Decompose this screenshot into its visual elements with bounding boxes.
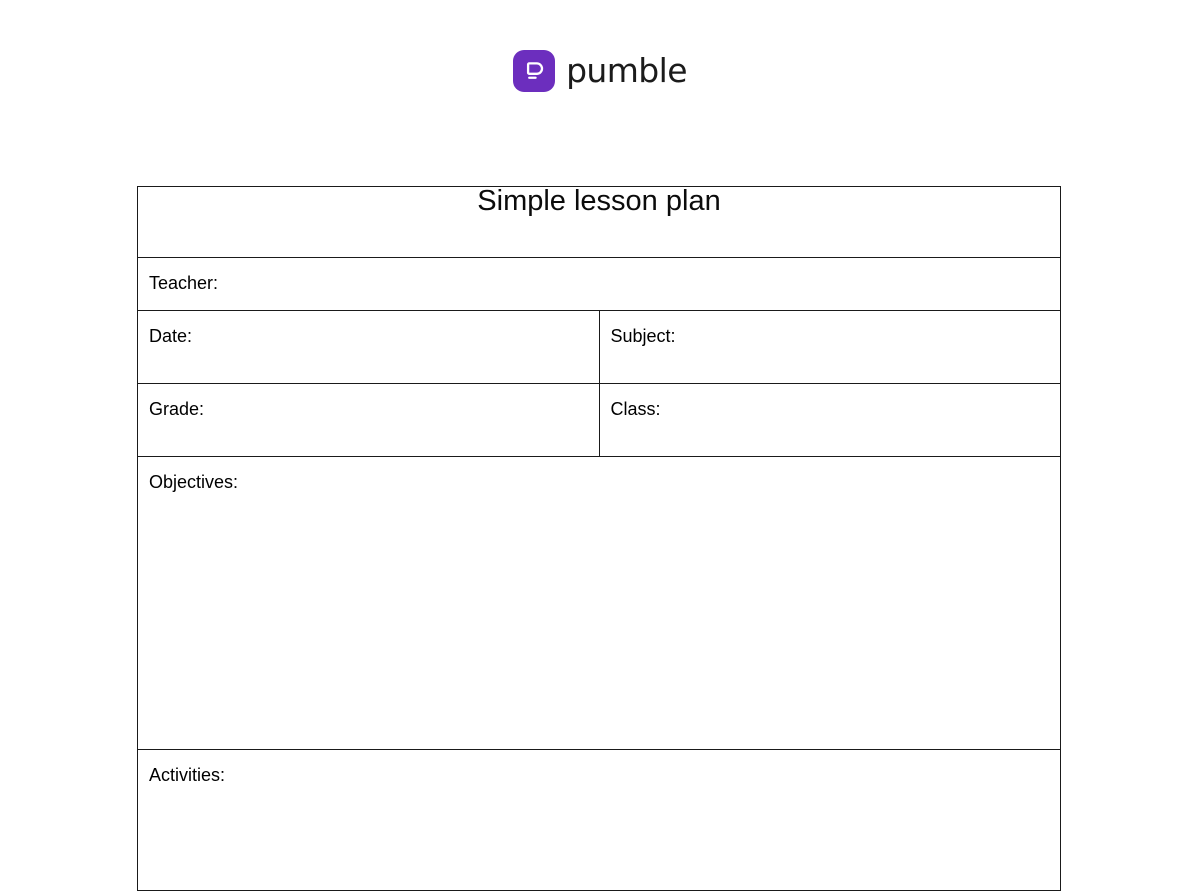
table-row-date-subject: Date: Subject: <box>138 311 1061 384</box>
table-row-activities: Activities: <box>138 750 1061 891</box>
class-label: Class: <box>600 384 1061 418</box>
lesson-plan-container: Simple lesson plan Teacher: Date: Subjec… <box>137 186 1061 891</box>
pumble-wordmark: pumble <box>566 54 687 87</box>
table-row-teacher: Teacher: <box>138 258 1061 311</box>
page-title: Simple lesson plan <box>138 187 1060 216</box>
brand-header: pumble <box>0 0 1200 145</box>
teacher-cell[interactable]: Teacher: <box>138 258 1061 311</box>
lesson-plan-table: Simple lesson plan Teacher: Date: Subjec… <box>137 186 1061 891</box>
table-row-title: Simple lesson plan <box>138 187 1061 258</box>
activities-cell[interactable]: Activities: <box>138 750 1061 891</box>
grade-label: Grade: <box>138 384 599 418</box>
activities-label: Activities: <box>138 750 1060 784</box>
grade-cell[interactable]: Grade: <box>138 384 600 457</box>
table-row-grade-class: Grade: Class: <box>138 384 1061 457</box>
objectives-cell[interactable]: Objectives: <box>138 457 1061 750</box>
date-label: Date: <box>138 311 599 345</box>
plan-title-cell: Simple lesson plan <box>138 187 1061 258</box>
table-row-objectives: Objectives: <box>138 457 1061 750</box>
pumble-logo[interactable]: pumble <box>513 50 687 92</box>
objectives-label: Objectives: <box>138 457 1060 491</box>
class-cell[interactable]: Class: <box>599 384 1061 457</box>
subject-cell[interactable]: Subject: <box>599 311 1061 384</box>
teacher-label: Teacher: <box>138 258 1060 292</box>
pumble-speech-bubble-logo-icon <box>513 50 555 92</box>
subject-label: Subject: <box>600 311 1061 345</box>
date-cell[interactable]: Date: <box>138 311 600 384</box>
